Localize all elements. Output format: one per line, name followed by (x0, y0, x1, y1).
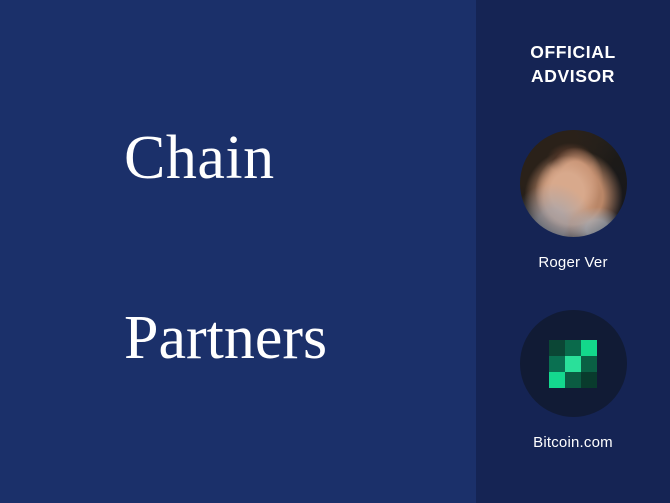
logo-line-2: Partners (124, 309, 327, 368)
avatar (520, 130, 627, 237)
bitcoin-grid-cell-4 (549, 356, 565, 372)
bitcoin-grid-cell-5 (565, 356, 581, 372)
bitcoin-grid-cell-7 (549, 372, 565, 388)
advisor-brand-label: Bitcoin.com (476, 434, 670, 451)
bitcoin-grid-cell-2 (565, 340, 581, 356)
chain-partners-logo: Chain Partners (124, 11, 327, 485)
bitcoin-grid-cell-1 (549, 340, 565, 356)
bitcoin-grid-cell-8 (565, 372, 581, 388)
bitcoin-logo-icon (520, 310, 627, 417)
advisor-entry-person: Roger Ver (476, 130, 670, 271)
advisor-heading-line-2: ADVISOR (476, 65, 670, 89)
advisor-panel: OFFICIAL ADVISOR Roger Ver (476, 0, 670, 503)
brand-panel: Chain Partners (0, 0, 476, 503)
bitcoin-grid-cell-3 (581, 340, 597, 356)
bitcoin-grid-cell-9 (581, 372, 597, 388)
advisor-entry-brand: Bitcoin.com (476, 310, 670, 451)
logo-line-1: Chain (124, 129, 327, 188)
advisor-heading-line-1: OFFICIAL (476, 41, 670, 65)
advisor-card: Chain Partners OFFICIAL ADVISOR Roger Ve… (0, 0, 670, 503)
bitcoin-grid-cell-6 (581, 356, 597, 372)
advisor-name-label: Roger Ver (476, 254, 670, 271)
advisor-heading: OFFICIAL ADVISOR (476, 41, 670, 88)
bitcoin-grid (549, 340, 597, 388)
